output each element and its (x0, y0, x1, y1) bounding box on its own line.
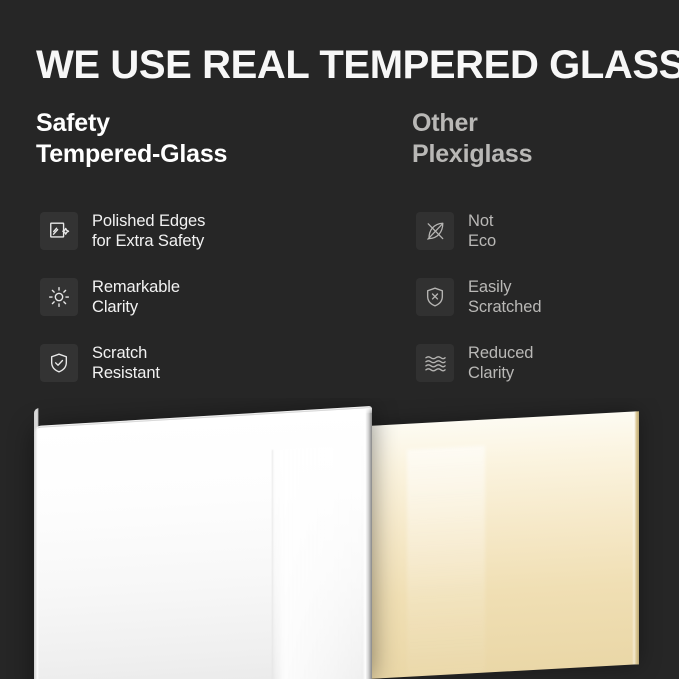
page-title: WE USE REAL TEMPERED GLASS (36, 42, 656, 88)
feature-label: Scratch Resistant (92, 343, 160, 383)
brightness-sun-icon (40, 278, 78, 316)
comparison-columns: Safety Tempered-Glass Polished Edges for… (0, 108, 679, 398)
feature-scratch-resistant: Scratch Resistant (40, 340, 320, 386)
feature-label: Not Eco (468, 211, 496, 251)
feature-list-plexiglass: Not Eco Easily Scratched (416, 208, 679, 406)
product-photo (0, 398, 679, 679)
leaf-crossed-out-icon (416, 212, 454, 250)
wavy-lines-icon (416, 344, 454, 382)
feature-label: Polished Edges for Extra Safety (92, 211, 205, 251)
feature-label: Reduced Clarity (468, 343, 533, 383)
tempered-glass-panel (34, 408, 372, 679)
column-plexiglass: Other Plexiglass Not Eco (412, 108, 679, 170)
feature-list-tempered-glass: Polished Edges for Extra Safety Remarkab… (40, 208, 320, 406)
tempered-glass-left-edge (34, 408, 39, 679)
feature-reduced-clarity: Reduced Clarity (416, 340, 679, 386)
column-tempered-glass: Safety Tempered-Glass Polished Edges for… (36, 108, 336, 170)
polished-edges-icon (40, 212, 78, 250)
feature-polished-edges: Polished Edges for Extra Safety (40, 208, 320, 254)
shield-check-icon (40, 344, 78, 382)
shield-x-icon (416, 278, 454, 316)
feature-easily-scratched: Easily Scratched (416, 274, 679, 320)
comparison-infographic: WE USE REAL TEMPERED GLASS Safety Temper… (0, 0, 679, 679)
feature-label: Remarkable Clarity (92, 277, 180, 317)
feature-remarkable-clarity: Remarkable Clarity (40, 274, 320, 320)
feature-label: Easily Scratched (468, 277, 541, 317)
column-title-plexiglass: Other Plexiglass (412, 108, 679, 170)
feature-not-eco: Not Eco (416, 208, 679, 254)
column-title-tempered-glass: Safety Tempered-Glass (36, 108, 336, 170)
plexiglass-panel (367, 411, 639, 679)
